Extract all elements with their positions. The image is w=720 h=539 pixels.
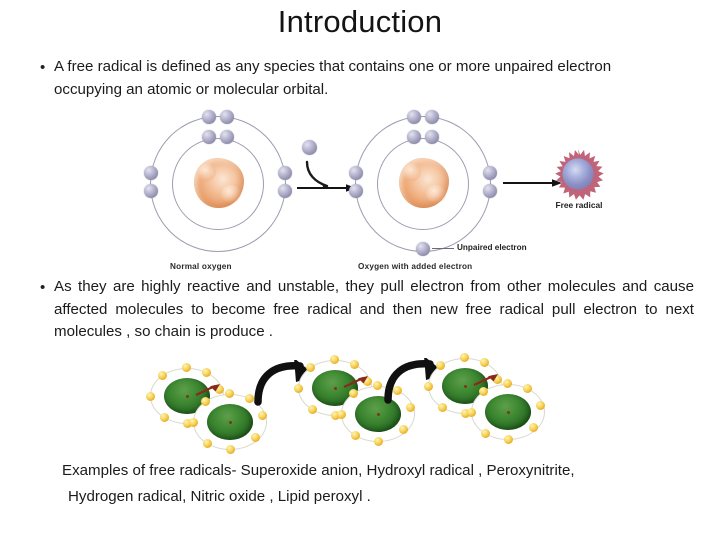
examples-block: Examples of free radicals- Superoxide an…: [62, 458, 682, 510]
electron-dot: [529, 423, 538, 432]
molecule-pair: [428, 358, 558, 444]
electron-dot: [460, 353, 469, 362]
electron-dot: [160, 413, 169, 422]
page-title: Introduction: [0, 2, 720, 42]
electron-dot: [480, 358, 489, 367]
electron-dot: [203, 439, 212, 448]
free-radical-label: Free radical: [534, 200, 624, 210]
electron-dot: [425, 110, 439, 124]
electron-dot: [407, 110, 421, 124]
electron-transfer-arrow-icon: [194, 382, 224, 400]
electron-dot: [306, 363, 315, 372]
electron-dot: [189, 418, 198, 427]
electron-dot: [523, 384, 532, 393]
nucleus-icon: [194, 158, 244, 208]
oxygen-with-added-electron-caption: Oxygen with added electron: [358, 262, 472, 271]
electron-dot: [220, 110, 234, 124]
electron-dot: [251, 433, 260, 442]
oxygen-electron-transfer-diagram: Normal oxygen: [130, 110, 630, 270]
electron-dot: [330, 355, 339, 364]
electron-dot: [483, 184, 497, 198]
electron-dot: [349, 166, 363, 180]
electron-dot: [278, 184, 292, 198]
bullet-marker-icon: •: [40, 56, 54, 79]
normal-oxygen-atom: [150, 116, 286, 252]
electron-dot: [481, 429, 490, 438]
molecule-core: [207, 404, 253, 440]
bullet-marker-icon: •: [40, 276, 54, 299]
free-radical-group: Free radical: [534, 148, 624, 224]
electron-dot: [350, 360, 359, 369]
electron-dot: [146, 392, 155, 401]
normal-oxygen-caption: Normal oxygen: [170, 262, 232, 271]
electron-dot: [225, 389, 234, 398]
free-radical-starburst-icon: [552, 148, 604, 200]
examples-line-2: Hydrogen radical, Nitric oxide , Lipid p…: [62, 484, 682, 510]
bullet-item-1: • A free radical is defined as any speci…: [40, 56, 690, 101]
electron-dot: [245, 394, 254, 403]
electron-transfer-arrow-icon: [472, 372, 502, 390]
electron-dot: [144, 184, 158, 198]
free-radical-chain-reaction-diagram: [150, 358, 570, 454]
electron-transfer-arrow-icon: [342, 374, 372, 392]
electron-dot: [373, 381, 382, 390]
electron-dot: [351, 431, 360, 440]
unpaired-electron-label: Unpaired electron: [457, 243, 527, 252]
bullet-text-1: A free radical is defined as any species…: [54, 56, 668, 101]
electron-dot: [202, 368, 211, 377]
electron-dot: [424, 382, 433, 391]
electron-dot: [374, 437, 383, 446]
electron-dot: [278, 166, 292, 180]
electron-dot: [504, 435, 513, 444]
electron-dot: [425, 130, 439, 144]
electron-dot: [337, 410, 346, 419]
electron-dot: [349, 184, 363, 198]
electron-dot: [407, 130, 421, 144]
unpaired-electron-leader-line: [432, 248, 454, 249]
nucleus-icon: [399, 158, 449, 208]
electron-dot: [503, 379, 512, 388]
examples-line-1: Examples of free radicals- Superoxide an…: [62, 462, 575, 479]
electron-dot: [144, 166, 158, 180]
electron-dot: [483, 166, 497, 180]
electron-dot: [308, 405, 317, 414]
electron-dot: [399, 425, 408, 434]
slide-canvas: Introduction • A free radical is defined…: [0, 0, 720, 539]
electron-dot: [202, 130, 216, 144]
bullet-item-2: • As they are highly reactive and unstab…: [40, 276, 700, 344]
electron-dot: [220, 130, 234, 144]
electron-dot: [467, 408, 476, 417]
electron-dot: [294, 384, 303, 393]
electron-dot: [436, 361, 445, 370]
electron-dot: [536, 401, 545, 410]
electron-dot: [158, 371, 167, 380]
electron-dot: [182, 363, 191, 372]
electron-dot: [406, 403, 415, 412]
bullet-text-2: As they are highly reactive and unstable…: [54, 276, 694, 344]
molecule: [471, 384, 545, 440]
oxygen-with-added-electron-atom: [355, 116, 491, 252]
electron-dot: [258, 411, 267, 420]
unpaired-electron-dot: [416, 242, 430, 256]
electron-dot: [226, 445, 235, 454]
electron-dot: [202, 110, 216, 124]
molecule-core: [485, 394, 531, 430]
electron-dot: [438, 403, 447, 412]
